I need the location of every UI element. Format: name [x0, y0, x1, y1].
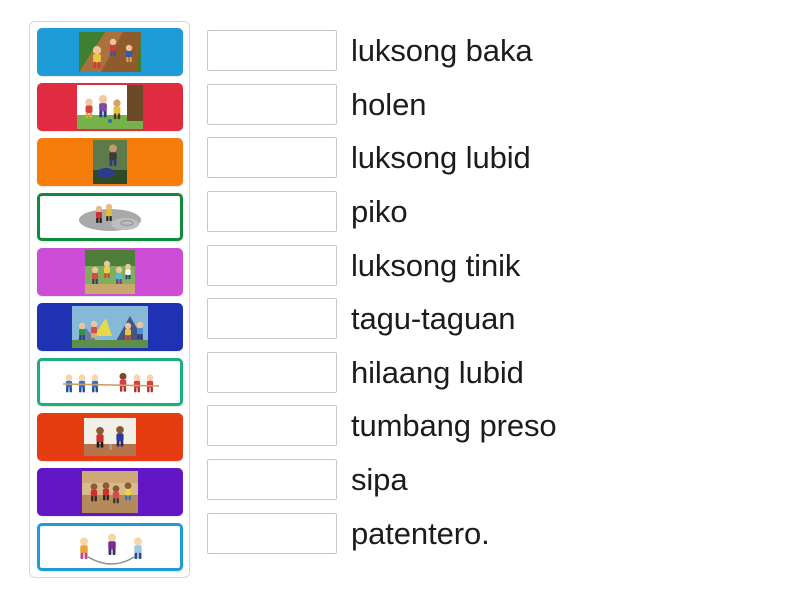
patentero-illustration — [66, 527, 154, 567]
answer-row-label-3: luksong lubid — [351, 142, 531, 173]
image-tile-2[interactable] — [37, 83, 183, 131]
answer-drop-target-5[interactable] — [207, 245, 337, 286]
answer-row-label-1: luksong baka — [351, 35, 533, 66]
answer-drop-target-6[interactable] — [207, 298, 337, 339]
tumbang-preso-illustration — [84, 418, 136, 456]
image-tile-1[interactable] — [37, 28, 183, 76]
answer-row-9: sipa — [207, 453, 787, 507]
answer-row-label-2: holen — [351, 89, 426, 120]
answer-row-label-8: tumbang preso — [351, 410, 557, 441]
image-tile-panel — [29, 21, 190, 578]
answer-drop-target-4[interactable] — [207, 191, 337, 232]
image-tile-3[interactable] — [37, 138, 183, 186]
answer-drop-target-2[interactable] — [207, 84, 337, 125]
sipa-illustration — [82, 471, 138, 513]
answer-drop-target-10[interactable] — [207, 513, 337, 554]
luksong-lubid-illustration — [93, 140, 127, 184]
tagu-taguan-illustration — [72, 306, 148, 348]
answer-drop-target-9[interactable] — [207, 459, 337, 500]
image-tile-7[interactable] — [37, 358, 183, 406]
answer-row-list: luksong bakaholenluksong lubidpikolukson… — [207, 24, 787, 560]
answer-row-4: piko — [207, 185, 787, 239]
luksong-baka-illustration — [79, 32, 141, 72]
image-tile-6[interactable] — [37, 303, 183, 351]
answer-drop-target-3[interactable] — [207, 137, 337, 178]
answer-row-label-9: sipa — [351, 464, 407, 495]
luksong-tinik-illustration — [85, 250, 135, 294]
activity-page: luksong bakaholenluksong lubidpikolukson… — [0, 0, 800, 600]
answer-row-5: luksong tinik — [207, 238, 787, 292]
image-tile-5[interactable] — [37, 248, 183, 296]
image-tile-8[interactable] — [37, 413, 183, 461]
answer-drop-target-1[interactable] — [207, 30, 337, 71]
answer-drop-target-8[interactable] — [207, 405, 337, 446]
answer-row-label-5: luksong tinik — [351, 250, 520, 281]
answer-row-label-6: tagu-taguan — [351, 303, 515, 334]
answer-row-7: hilaang lubid — [207, 346, 787, 400]
answer-row-6: tagu-taguan — [207, 292, 787, 346]
image-tile-10[interactable] — [37, 523, 183, 571]
answer-row-3: luksong lubid — [207, 131, 787, 185]
answer-row-8: tumbang preso — [207, 399, 787, 453]
image-tile-4[interactable] — [37, 193, 183, 241]
answer-row-1: luksong baka — [207, 24, 787, 78]
holen-illustration — [77, 85, 143, 129]
hilaang-lubid-illustration — [55, 364, 165, 400]
answer-row-10: patentero. — [207, 506, 787, 560]
answer-row-label-10: patentero. — [351, 518, 490, 549]
answer-drop-target-7[interactable] — [207, 352, 337, 393]
piko-illustration — [77, 202, 143, 232]
image-tile-9[interactable] — [37, 468, 183, 516]
answer-row-label-7: hilaang lubid — [351, 357, 524, 388]
answer-row-label-4: piko — [351, 196, 407, 227]
answer-row-2: holen — [207, 78, 787, 132]
